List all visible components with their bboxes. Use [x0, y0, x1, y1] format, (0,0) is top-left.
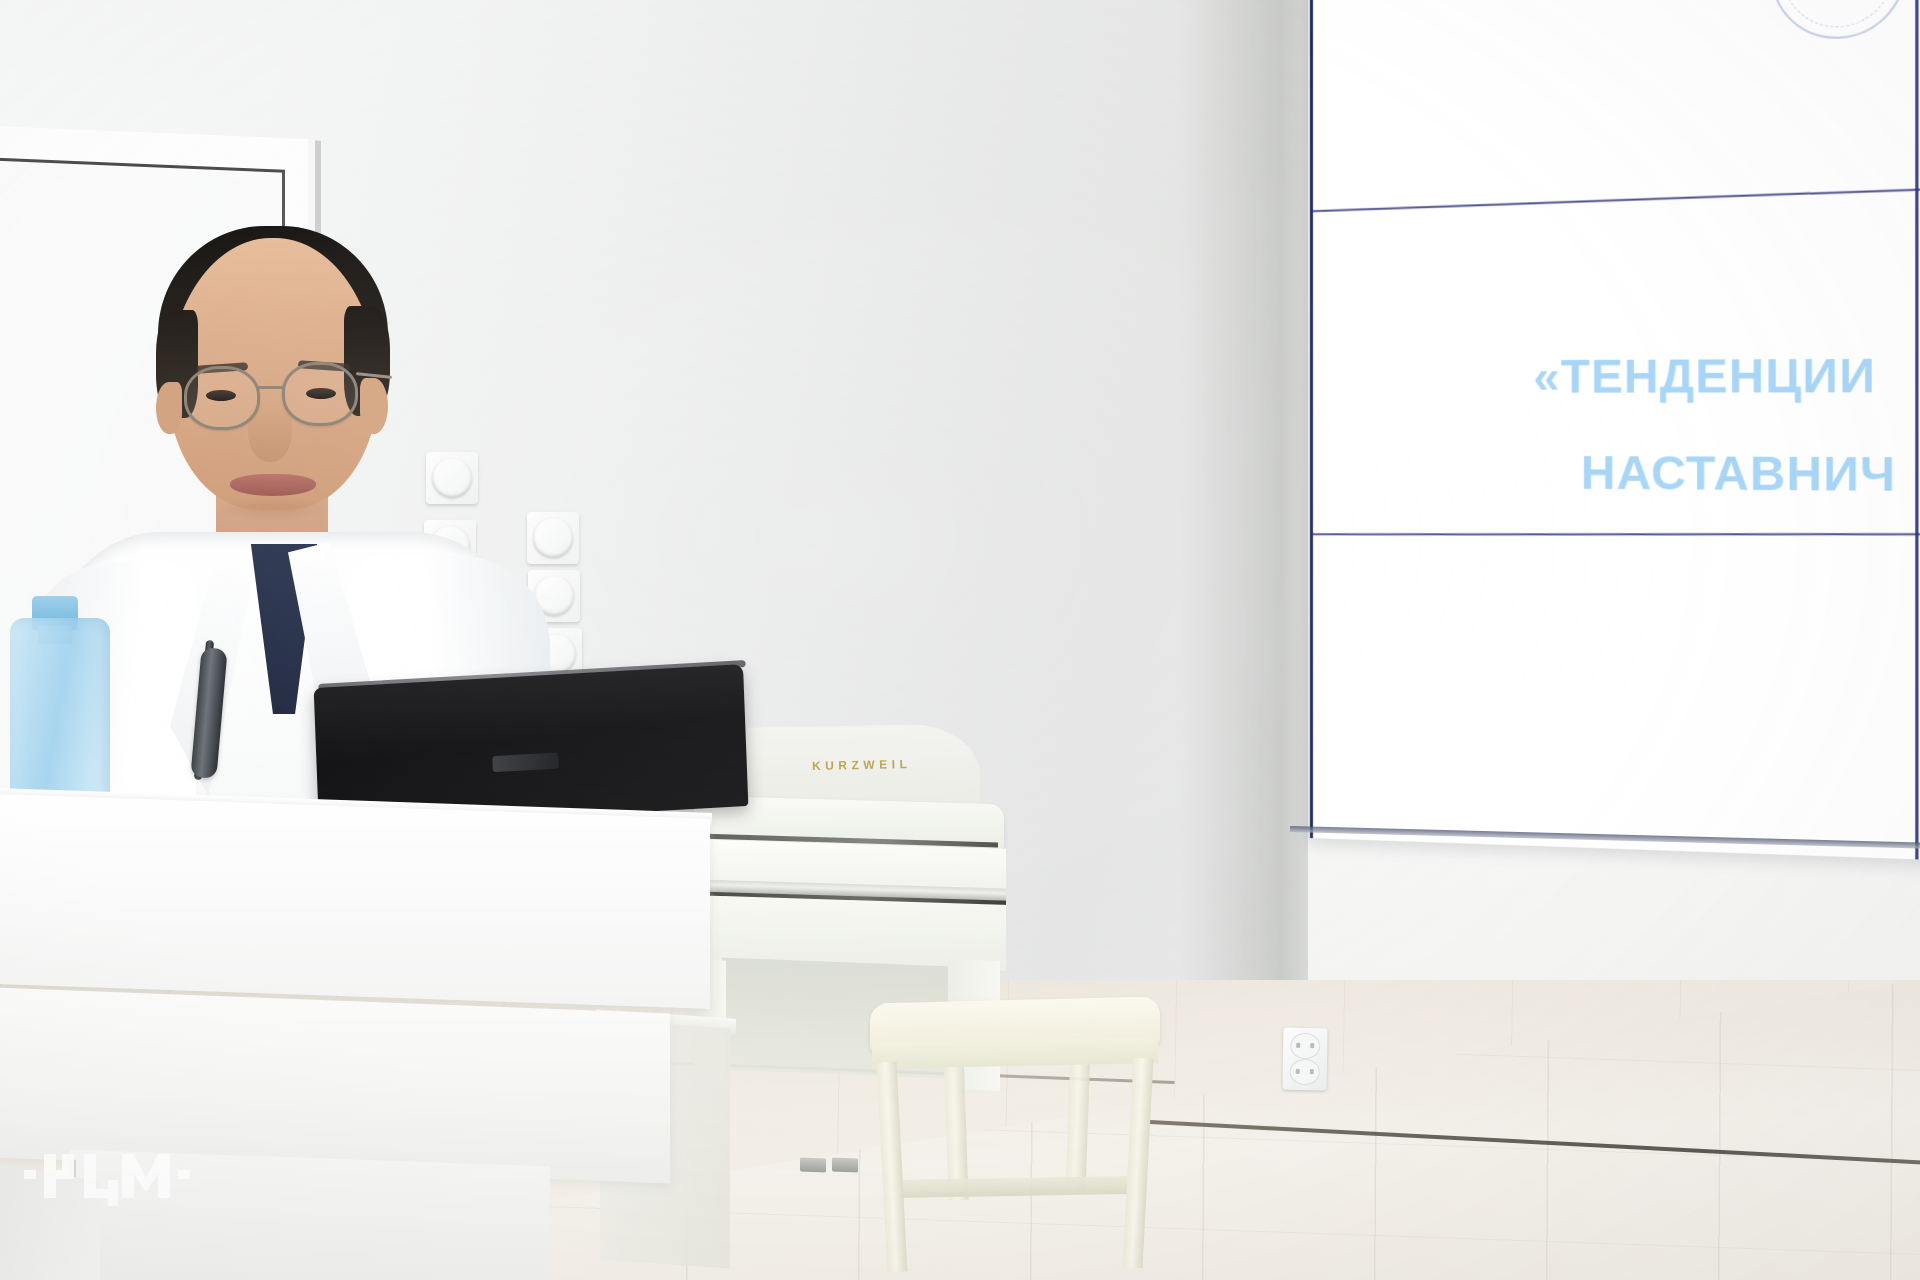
glasses-bridge — [258, 386, 284, 389]
photo-scene: «ТЕНДЕНЦИИ НАСТАВНИЧ KURZWEIL — [0, 0, 1920, 1280]
outlet-socket-bottom — [1290, 1059, 1320, 1086]
institutional-round-emblem-icon — [1771, 0, 1905, 41]
presentation-title-line-1: «ТЕНДЕНЦИИ — [1533, 348, 1876, 403]
presentation-title-line-2: НАСТАВНИЧ — [1533, 424, 1920, 525]
piano-pedal-right[interactable] — [832, 1158, 858, 1173]
laptop-logo-icon — [492, 752, 559, 772]
mouth — [230, 474, 316, 496]
video-wall[interactable]: «ТЕНДЕНЦИИ НАСТАВНИЧ — [1310, 0, 1920, 861]
ear-right — [360, 378, 388, 434]
piano-pedal-left[interactable] — [800, 1158, 826, 1173]
double-power-outlet[interactable] — [1282, 1028, 1327, 1091]
video-wall-seam-horizontal-bottom — [1313, 533, 1920, 535]
hlm-watermark — [22, 1140, 192, 1206]
chin-shadow — [216, 496, 332, 522]
piano-brand-label: KURZWEIL — [812, 757, 912, 773]
outlet-socket-top — [1290, 1033, 1320, 1060]
nose — [248, 400, 292, 462]
presentation-title: «ТЕНДЕНЦИИ НАСТАВНИЧ — [1533, 325, 1920, 525]
ear-left — [156, 382, 182, 434]
podium-upper-tier — [0, 793, 710, 1009]
hlm-watermark-icon — [22, 1140, 192, 1206]
video-wall-seam-horizontal-top — [1313, 186, 1920, 212]
glasses-lens-right — [282, 362, 358, 426]
